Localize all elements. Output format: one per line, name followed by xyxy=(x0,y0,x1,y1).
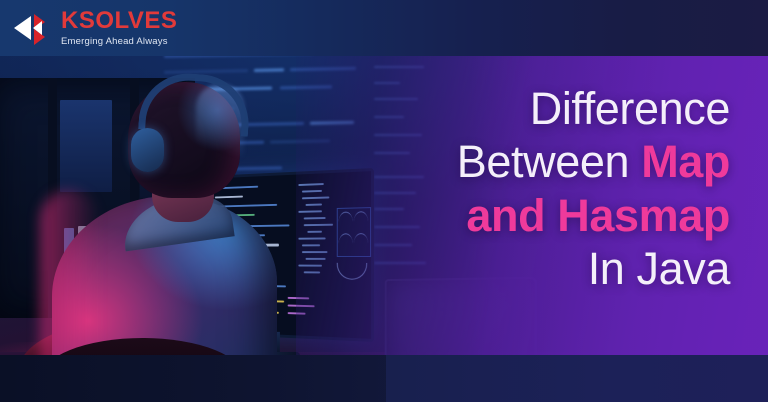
logo-brand-name: KSOLVES xyxy=(61,9,177,33)
headline-line-3: and Hasmap xyxy=(300,193,730,239)
bottom-navy-band-right xyxy=(386,355,768,402)
white-triangle-mid-icon xyxy=(33,21,42,35)
logo-tagline: Emerging Ahead Always xyxy=(61,37,177,47)
headline-line-2: Between Map xyxy=(300,139,730,185)
headline-line-4: In Java xyxy=(300,246,730,292)
blog-banner: KSOLVES Emerging Ahead Always Difference… xyxy=(0,0,768,402)
headphone-earcup-icon xyxy=(131,128,164,172)
ksolves-logo[interactable]: KSOLVES Emerging Ahead Always xyxy=(14,9,177,47)
ksolves-arrow-k-logo-icon xyxy=(14,11,52,45)
headline-line-1: Difference xyxy=(300,86,730,132)
page-title: Difference Between Map and Hasmap In Jav… xyxy=(300,86,730,299)
headline-accent-map: Map xyxy=(641,136,730,187)
headline-line-2-plain: Between xyxy=(457,136,641,187)
white-triangle-icon xyxy=(14,16,31,40)
logo-text-group: KSOLVES Emerging Ahead Always xyxy=(61,9,177,47)
